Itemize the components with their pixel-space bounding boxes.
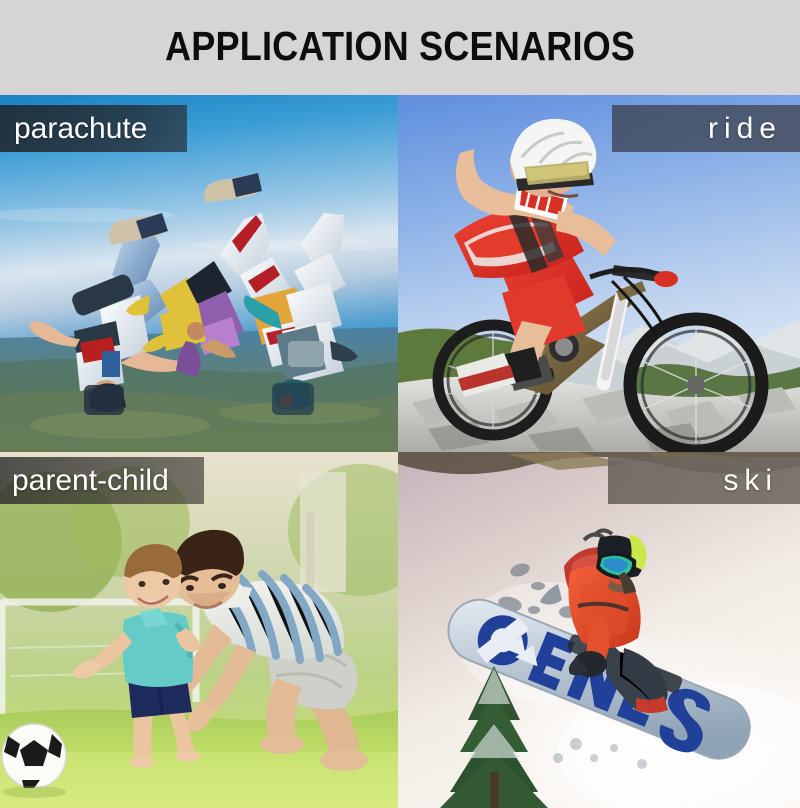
scenario-card-ride[interactable]: ride <box>398 95 800 452</box>
banner-header: APPLICATION SCENARIOS <box>0 0 800 95</box>
scenario-card-parachute[interactable]: parachute <box>0 95 398 452</box>
application-scenarios-banner: APPLICATION SCENARIOS <box>0 0 800 808</box>
scenario-label-text: parachute <box>14 112 147 146</box>
scenario-label-parachute: parachute <box>0 105 187 152</box>
scenario-label-text: ski <box>723 464 778 498</box>
scenario-label-text: ride <box>708 112 782 146</box>
page-title: APPLICATION SCENARIOS <box>165 23 635 70</box>
scenario-label-ski: ski <box>608 457 800 504</box>
scenario-label-ride: ride <box>612 105 800 152</box>
ski-photo <box>398 452 800 808</box>
scenario-label-parent-child: parent-child <box>0 457 204 504</box>
parent-child-photo <box>0 452 398 808</box>
scenario-grid: parachute <box>0 95 800 808</box>
scenario-card-ski[interactable]: ski <box>398 452 800 808</box>
scenario-label-text: parent-child <box>12 464 169 498</box>
scenario-card-parent-child[interactable]: parent-child <box>0 452 398 808</box>
